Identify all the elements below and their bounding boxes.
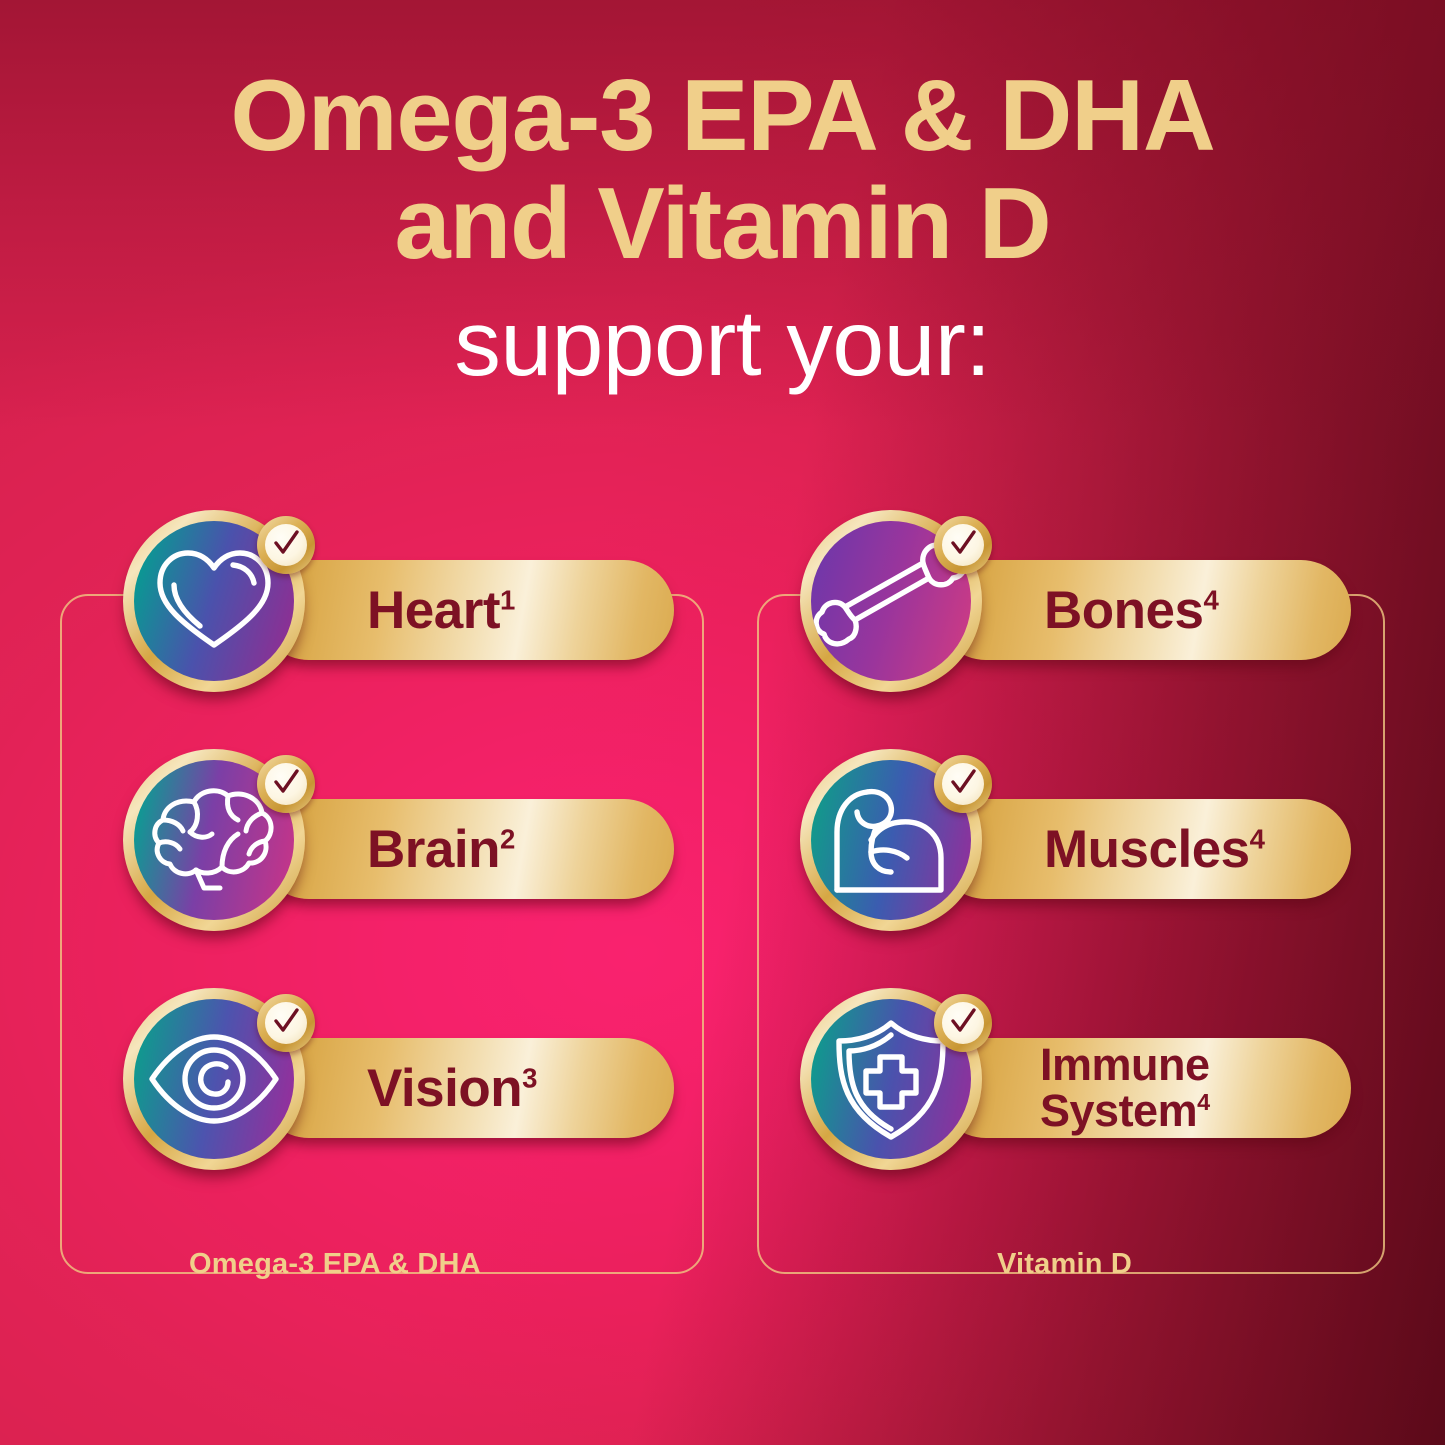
benefit-row-vision[interactable]: Vision3 bbox=[123, 988, 683, 1170]
benefit-icon-circle-muscles[interactable] bbox=[800, 749, 982, 931]
benefit-label-brain: Brain2 bbox=[367, 823, 515, 876]
bracket-label-omega3: Omega-3 EPA & DHA bbox=[173, 1248, 497, 1281]
footnote-marker: 3 bbox=[522, 1062, 537, 1093]
benefit-icon-circle-brain[interactable] bbox=[123, 749, 305, 931]
check-badge-inner bbox=[942, 1002, 984, 1044]
footnote-marker: 4 bbox=[1203, 584, 1218, 615]
benefit-row-heart[interactable]: Heart1 bbox=[123, 510, 683, 692]
check-badge bbox=[934, 994, 992, 1052]
check-badge bbox=[934, 516, 992, 574]
check-badge-inner bbox=[942, 763, 984, 805]
check-badge-inner bbox=[942, 524, 984, 566]
benefit-icon-circle-immune-system[interactable] bbox=[800, 988, 982, 1170]
check-icon bbox=[948, 769, 978, 799]
benefit-icon-circle-heart[interactable] bbox=[123, 510, 305, 692]
footnote-marker: 2 bbox=[500, 823, 515, 854]
benefit-icon-circle-bones[interactable] bbox=[800, 510, 982, 692]
check-badge bbox=[257, 994, 315, 1052]
benefit-label-bones: Bones4 bbox=[1044, 584, 1218, 637]
benefit-label-line-1: Immune bbox=[1040, 1039, 1210, 1090]
check-icon bbox=[948, 1008, 978, 1038]
check-badge bbox=[934, 755, 992, 813]
benefit-row-immune-system[interactable]: ImmuneSystem4 bbox=[800, 988, 1360, 1170]
headline-line-3: support your: bbox=[0, 294, 1445, 394]
benefit-row-brain[interactable]: Brain2 bbox=[123, 749, 683, 931]
benefit-label-vision: Vision3 bbox=[367, 1062, 537, 1115]
footnote-marker: 1 bbox=[500, 584, 515, 615]
benefit-pill-bones[interactable]: Bones4 bbox=[936, 560, 1351, 660]
check-icon bbox=[271, 769, 301, 799]
benefit-label-heart: Heart1 bbox=[367, 584, 515, 637]
benefit-row-bones[interactable]: Bones4 bbox=[800, 510, 1360, 692]
check-badge bbox=[257, 516, 315, 574]
benefit-column-vitamin-d: Bones4 bbox=[800, 510, 1360, 1227]
benefit-row-muscles[interactable]: Muscles4 bbox=[800, 749, 1360, 931]
benefit-pill-brain[interactable]: Brain2 bbox=[259, 799, 674, 899]
footnote-marker: 4 bbox=[1250, 823, 1265, 854]
check-icon bbox=[271, 1008, 301, 1038]
benefit-pill-muscles[interactable]: Muscles4 bbox=[936, 799, 1351, 899]
check-icon bbox=[271, 530, 301, 560]
headline: Omega-3 EPA & DHA and Vitamin D support … bbox=[0, 62, 1445, 394]
benefit-label-muscles: Muscles4 bbox=[1044, 823, 1264, 876]
check-badge bbox=[257, 755, 315, 813]
footnote-marker: 4 bbox=[1197, 1089, 1210, 1115]
headline-line-1: Omega-3 EPA & DHA bbox=[0, 62, 1445, 170]
benefit-column-omega3: Heart1 bbox=[123, 510, 683, 1227]
benefit-pill-vision[interactable]: Vision3 bbox=[259, 1038, 674, 1138]
benefit-pill-immune-system[interactable]: ImmuneSystem4 bbox=[936, 1038, 1351, 1138]
check-badge-inner bbox=[265, 763, 307, 805]
bracket-label-vitamin-d: Vitamin D bbox=[981, 1248, 1148, 1281]
check-badge-inner bbox=[265, 1002, 307, 1044]
benefit-label-line-2: System bbox=[1040, 1085, 1197, 1136]
headline-line-2: and Vitamin D bbox=[0, 170, 1445, 278]
benefit-icon-circle-vision[interactable] bbox=[123, 988, 305, 1170]
benefit-label-immune-system: ImmuneSystem4 bbox=[1040, 1042, 1210, 1135]
benefit-pill-heart[interactable]: Heart1 bbox=[259, 560, 674, 660]
check-badge-inner bbox=[265, 524, 307, 566]
check-icon bbox=[948, 530, 978, 560]
